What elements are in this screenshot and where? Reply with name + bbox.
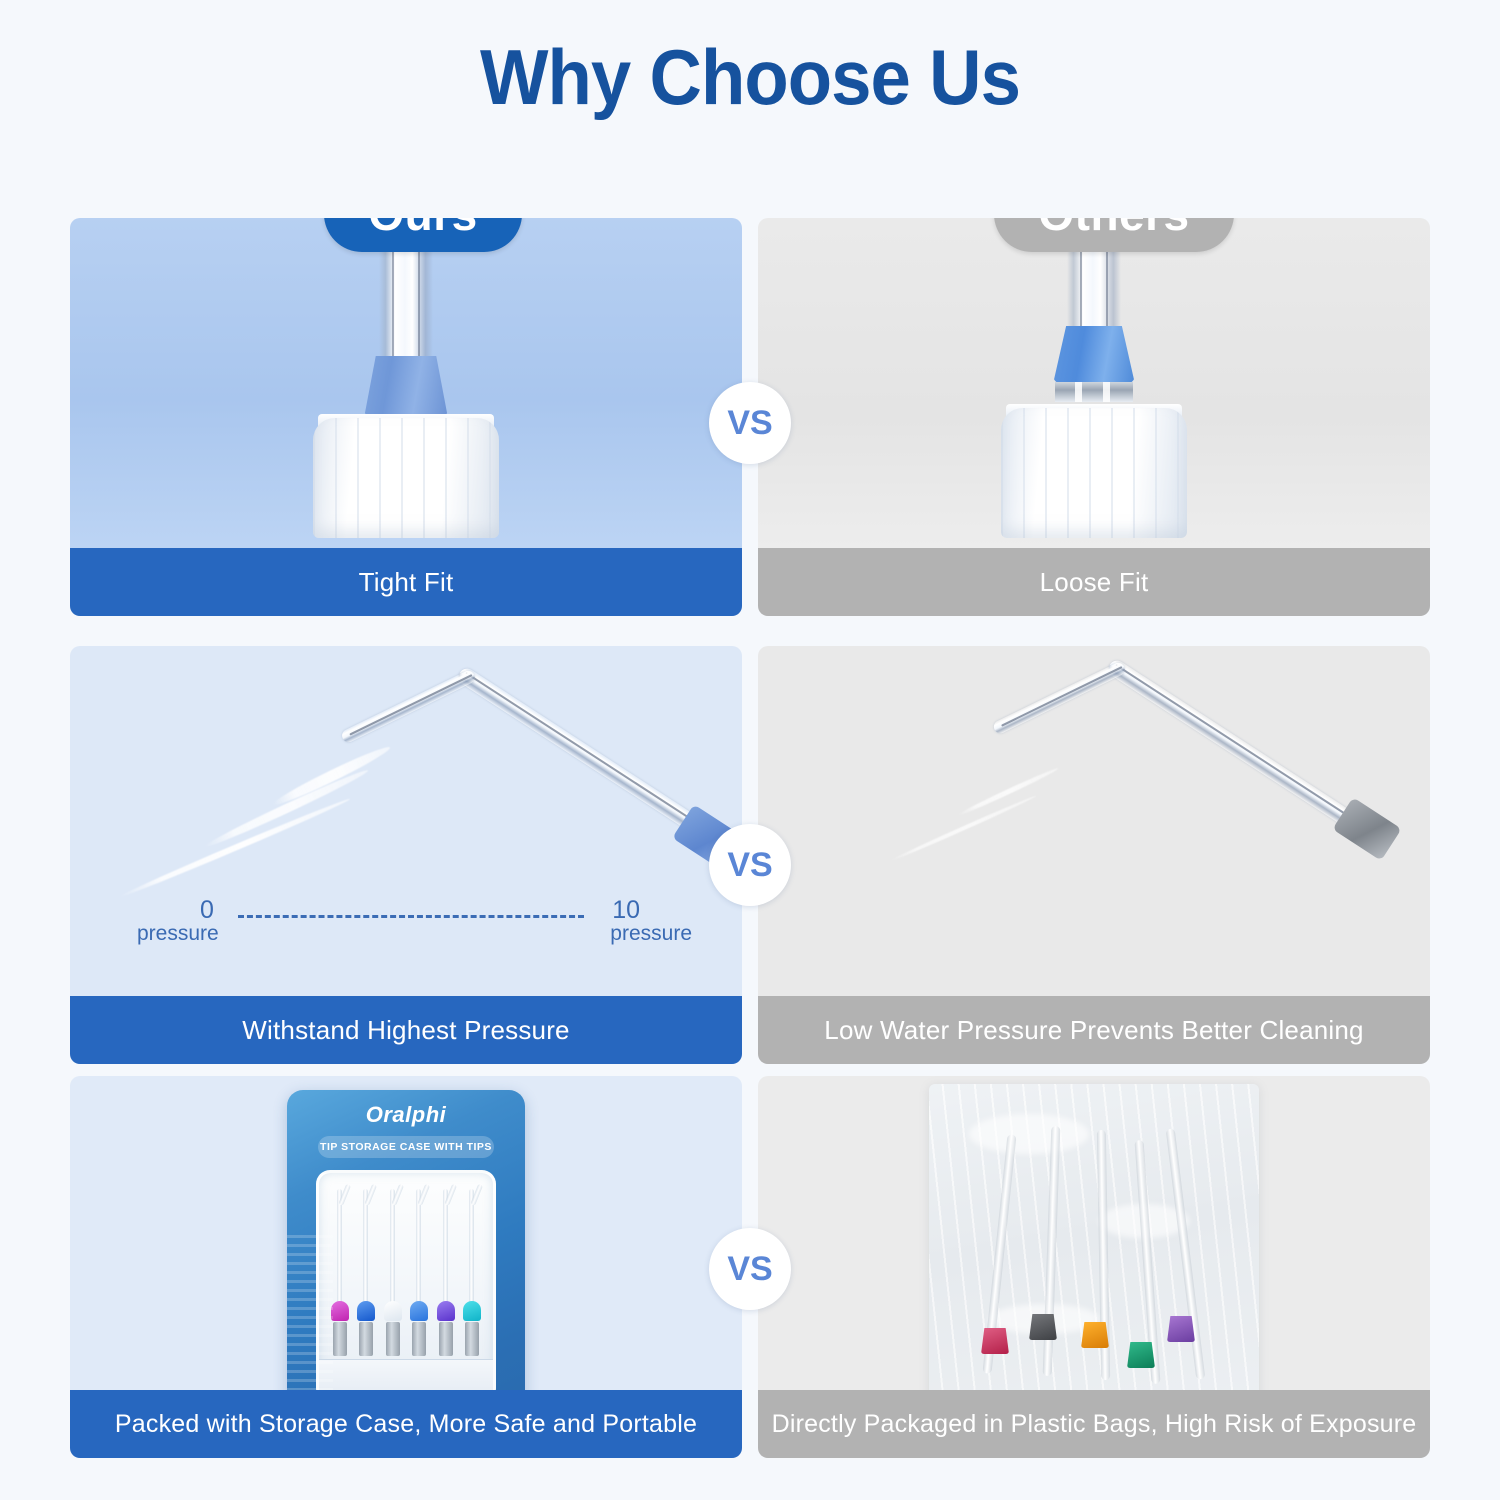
- row-pressure: 0 pressure 10 pressure Withstand Highest…: [70, 646, 1430, 1064]
- image-tight-fit-nozzle: [70, 218, 742, 548]
- device-handle: [1001, 408, 1187, 538]
- caption-ours-pressure: Withstand Highest Pressure: [70, 996, 742, 1064]
- image-high-pressure-jet: 0 pressure 10 pressure: [70, 646, 742, 996]
- tip-item: [355, 1189, 377, 1359]
- header-pill-ours: Ours: [324, 218, 522, 252]
- vs-badge-packaging: VS: [709, 1228, 791, 1310]
- panel-ours-pressure: 0 pressure 10 pressure Withstand Highest…: [70, 646, 742, 1064]
- panel-others-packaging: Directly Packaged in Plastic Bags, High …: [758, 1076, 1430, 1458]
- case-base: [319, 1359, 493, 1390]
- image-loose-fit-nozzle: [758, 218, 1430, 548]
- nozzle-collar-blue: [364, 356, 448, 418]
- panel-ours-fit: Tight Fit Ours: [70, 218, 742, 616]
- nozzle-collar-blue: [1053, 326, 1135, 384]
- caption-others-packaging: Directly Packaged in Plastic Bags, High …: [758, 1390, 1430, 1458]
- wand-others: [758, 646, 1430, 996]
- blister-pack: Oralphi TIP STORAGE CASE WITH TIPS: [287, 1090, 525, 1390]
- bag-tip-cap: [1127, 1342, 1155, 1368]
- tip-item: [329, 1189, 351, 1359]
- bag-tip-cap: [1167, 1316, 1195, 1342]
- vs-badge-fit: VS: [709, 382, 791, 464]
- vs-badge-pressure: VS: [709, 824, 791, 906]
- tip-item: [435, 1189, 457, 1359]
- nozzle-tight: [306, 218, 506, 548]
- image-low-pressure-jet: [758, 646, 1430, 996]
- pressure-low-label: pressure: [137, 922, 219, 946]
- brand-name: Oralphi: [287, 1102, 525, 1128]
- pressure-low-value: 0: [200, 896, 214, 925]
- bag-tip-cap: [981, 1328, 1009, 1354]
- caption-others-pressure: Low Water Pressure Prevents Better Clean…: [758, 996, 1430, 1064]
- row-fit: Tight Fit Ours Loose Fit Others: [70, 218, 1430, 616]
- row-packaging: Oralphi TIP STORAGE CASE WITH TIPS: [70, 1076, 1430, 1458]
- image-plastic-bag: [758, 1076, 1430, 1390]
- bag-tip-cap: [1081, 1322, 1109, 1348]
- nozzle-loose: [994, 218, 1194, 548]
- caption-ours-packaging: Packed with Storage Case, More Safe and …: [70, 1390, 742, 1458]
- pressure-scale: 0 pressure 10 pressure: [132, 896, 692, 956]
- page-title: Why Choose Us: [53, 32, 1448, 123]
- tip-item: [461, 1189, 483, 1359]
- device-handle: [313, 418, 499, 538]
- pressure-high-value: 10: [612, 896, 640, 925]
- tips-row: [329, 1189, 483, 1359]
- caption-others-fit: Loose Fit: [758, 548, 1430, 616]
- tip-storage-case: [316, 1170, 496, 1390]
- caption-ours-fit: Tight Fit: [70, 548, 742, 616]
- image-storage-case: Oralphi TIP STORAGE CASE WITH TIPS: [70, 1076, 742, 1390]
- package-badge: TIP STORAGE CASE WITH TIPS: [318, 1136, 494, 1158]
- tip-item: [382, 1189, 404, 1359]
- panel-others-pressure: Low Water Pressure Prevents Better Clean…: [758, 646, 1430, 1064]
- bag-tip-cap: [1029, 1314, 1057, 1340]
- comparison-grid: Tight Fit Ours Loose Fit Others: [70, 218, 1430, 1458]
- header-pill-others: Others: [994, 218, 1234, 252]
- plastic-bag: [929, 1084, 1259, 1390]
- tip-item: [408, 1189, 430, 1359]
- pressure-high-label: pressure: [610, 922, 692, 946]
- panel-others-fit: Loose Fit Others: [758, 218, 1430, 616]
- pressure-scale-line: [238, 915, 584, 918]
- panel-ours-packaging: Oralphi TIP STORAGE CASE WITH TIPS: [70, 1076, 742, 1458]
- loose-fit-gap: [1055, 382, 1133, 402]
